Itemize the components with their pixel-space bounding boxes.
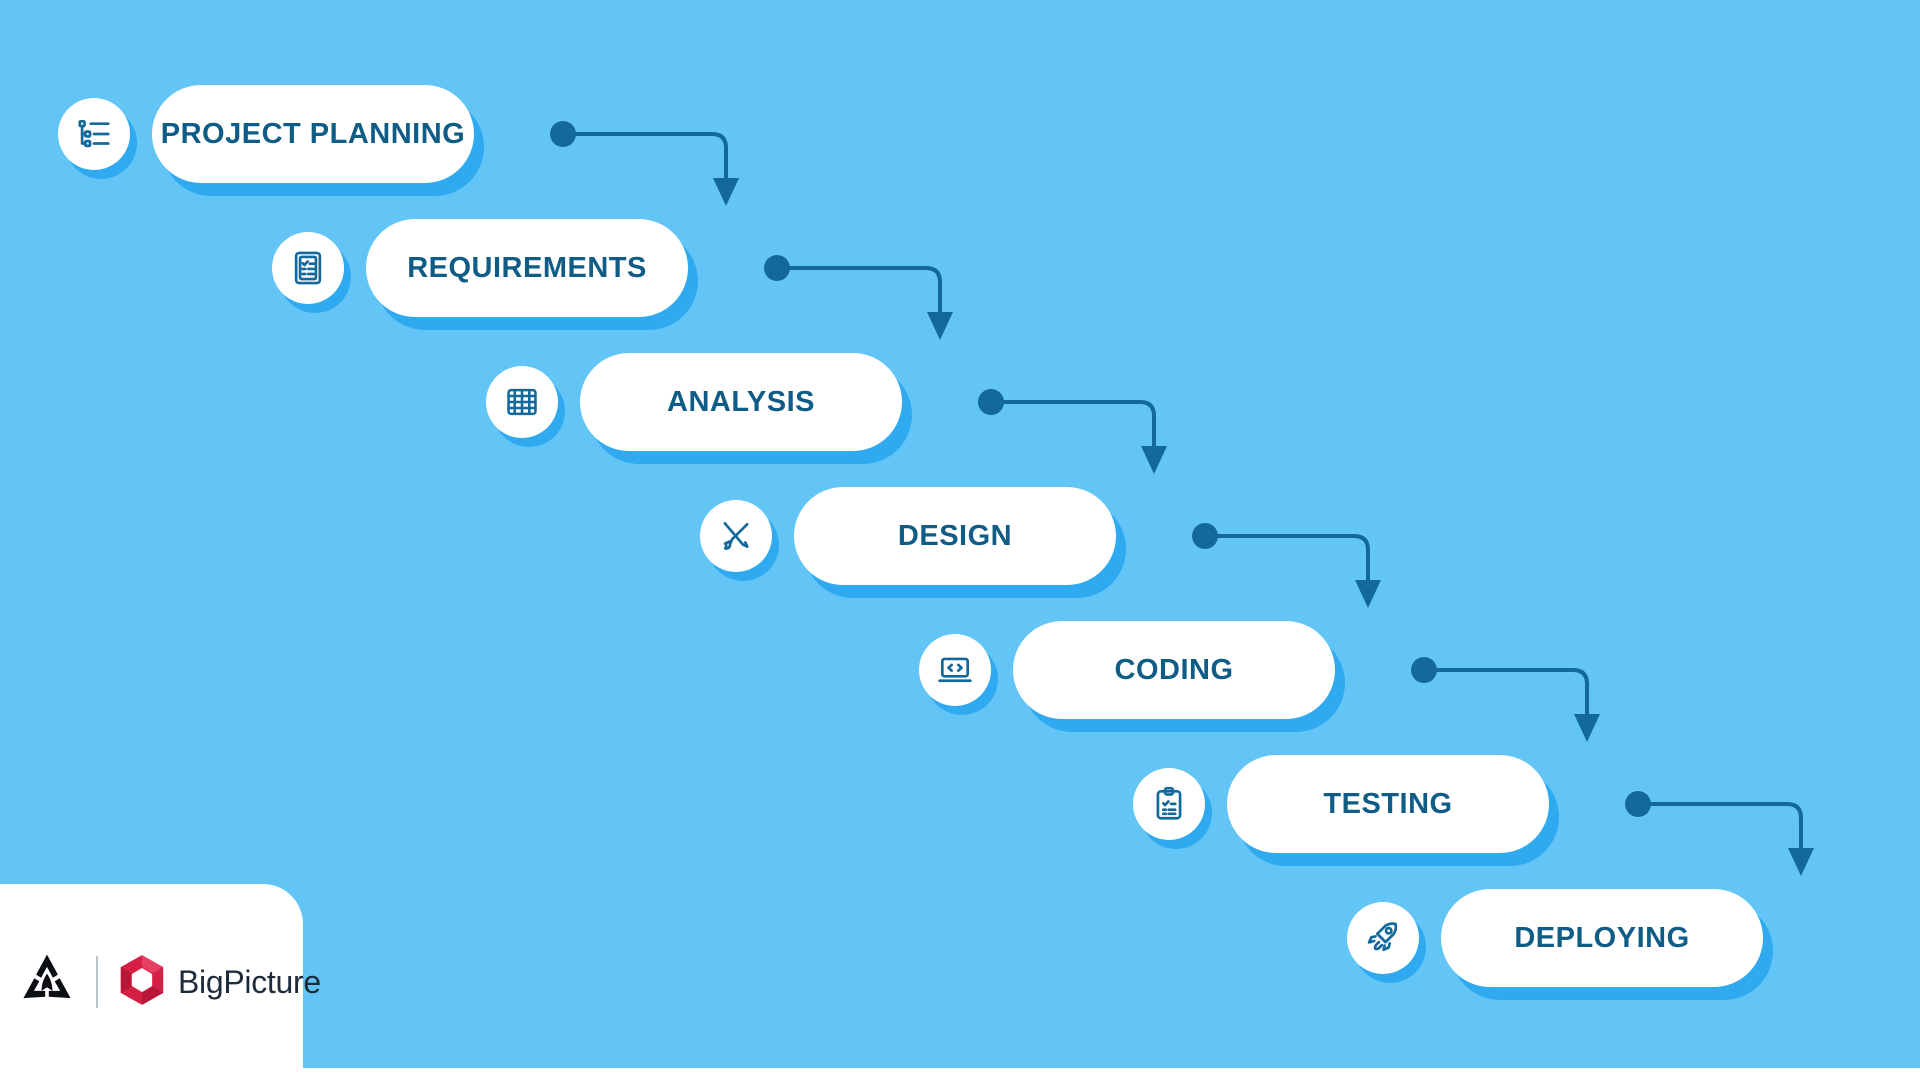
step-pill[interactable]: DESIGN [794,487,1116,585]
footer-strip [303,1068,1920,1080]
step-pill[interactable]: TESTING [1227,755,1549,853]
step-label: ANALYSIS [667,388,815,417]
step-pill[interactable]: PROJECT PLANNING [152,85,474,183]
appfire-trident-icon [18,951,76,1014]
connector-1-2 [563,134,726,178]
step-analysis[interactable]: ANALYSIS [486,353,902,451]
brand-name: BigPicture [178,966,321,998]
bigpicture-hexagon-icon [118,954,166,1011]
arrowhead-5-6 [1574,714,1600,742]
step-label: REQUIREMENTS [407,254,647,283]
step-pill[interactable]: ANALYSIS [580,353,902,451]
step-pill[interactable]: REQUIREMENTS [366,219,688,317]
step-requirements[interactable]: REQUIREMENTS [272,219,688,317]
arrowhead-2-3 [927,312,953,340]
brand-footer: BigPicture [0,884,303,1080]
node-dot-5 [1411,657,1437,683]
arrowhead-1-2 [713,178,739,206]
step-label: PROJECT PLANNING [161,120,465,149]
step-pill[interactable]: DEPLOYING [1441,889,1763,987]
node-dot-2 [764,255,790,281]
node-dot-6 [1625,791,1651,817]
laptop-code-icon [919,634,991,706]
step-deploying[interactable]: DEPLOYING [1347,889,1763,987]
node-dot-3 [978,389,1004,415]
step-label: TESTING [1323,790,1452,819]
clipboard-check-icon [1133,768,1205,840]
clipboard-list-icon [272,232,344,304]
task-list-icon [58,98,130,170]
step-label: CODING [1115,656,1234,685]
arrowhead-3-4 [1141,446,1167,474]
connector-2-3 [777,268,940,312]
diagram-canvas: PROJECT PLANNING REQUIREMENTS [0,0,1920,1080]
node-dot-1 [550,121,576,147]
connector-6-7 [1638,804,1801,848]
step-project-planning[interactable]: PROJECT PLANNING [58,85,474,183]
pencil-brush-icon [700,500,772,572]
arrowhead-6-7 [1788,848,1814,876]
step-coding[interactable]: CODING [919,621,1335,719]
connector-5-6 [1424,670,1587,714]
abacus-grid-icon [486,366,558,438]
step-label: DEPLOYING [1514,924,1689,953]
brand-divider [96,956,98,1008]
node-dot-4 [1192,523,1218,549]
arrowhead-4-5 [1355,580,1381,608]
step-testing[interactable]: TESTING [1133,755,1549,853]
step-design[interactable]: DESIGN [700,487,1116,585]
connector-3-4 [991,402,1154,446]
rocket-icon [1347,902,1419,974]
step-pill[interactable]: CODING [1013,621,1335,719]
connector-4-5 [1205,536,1368,580]
step-label: DESIGN [898,522,1012,551]
